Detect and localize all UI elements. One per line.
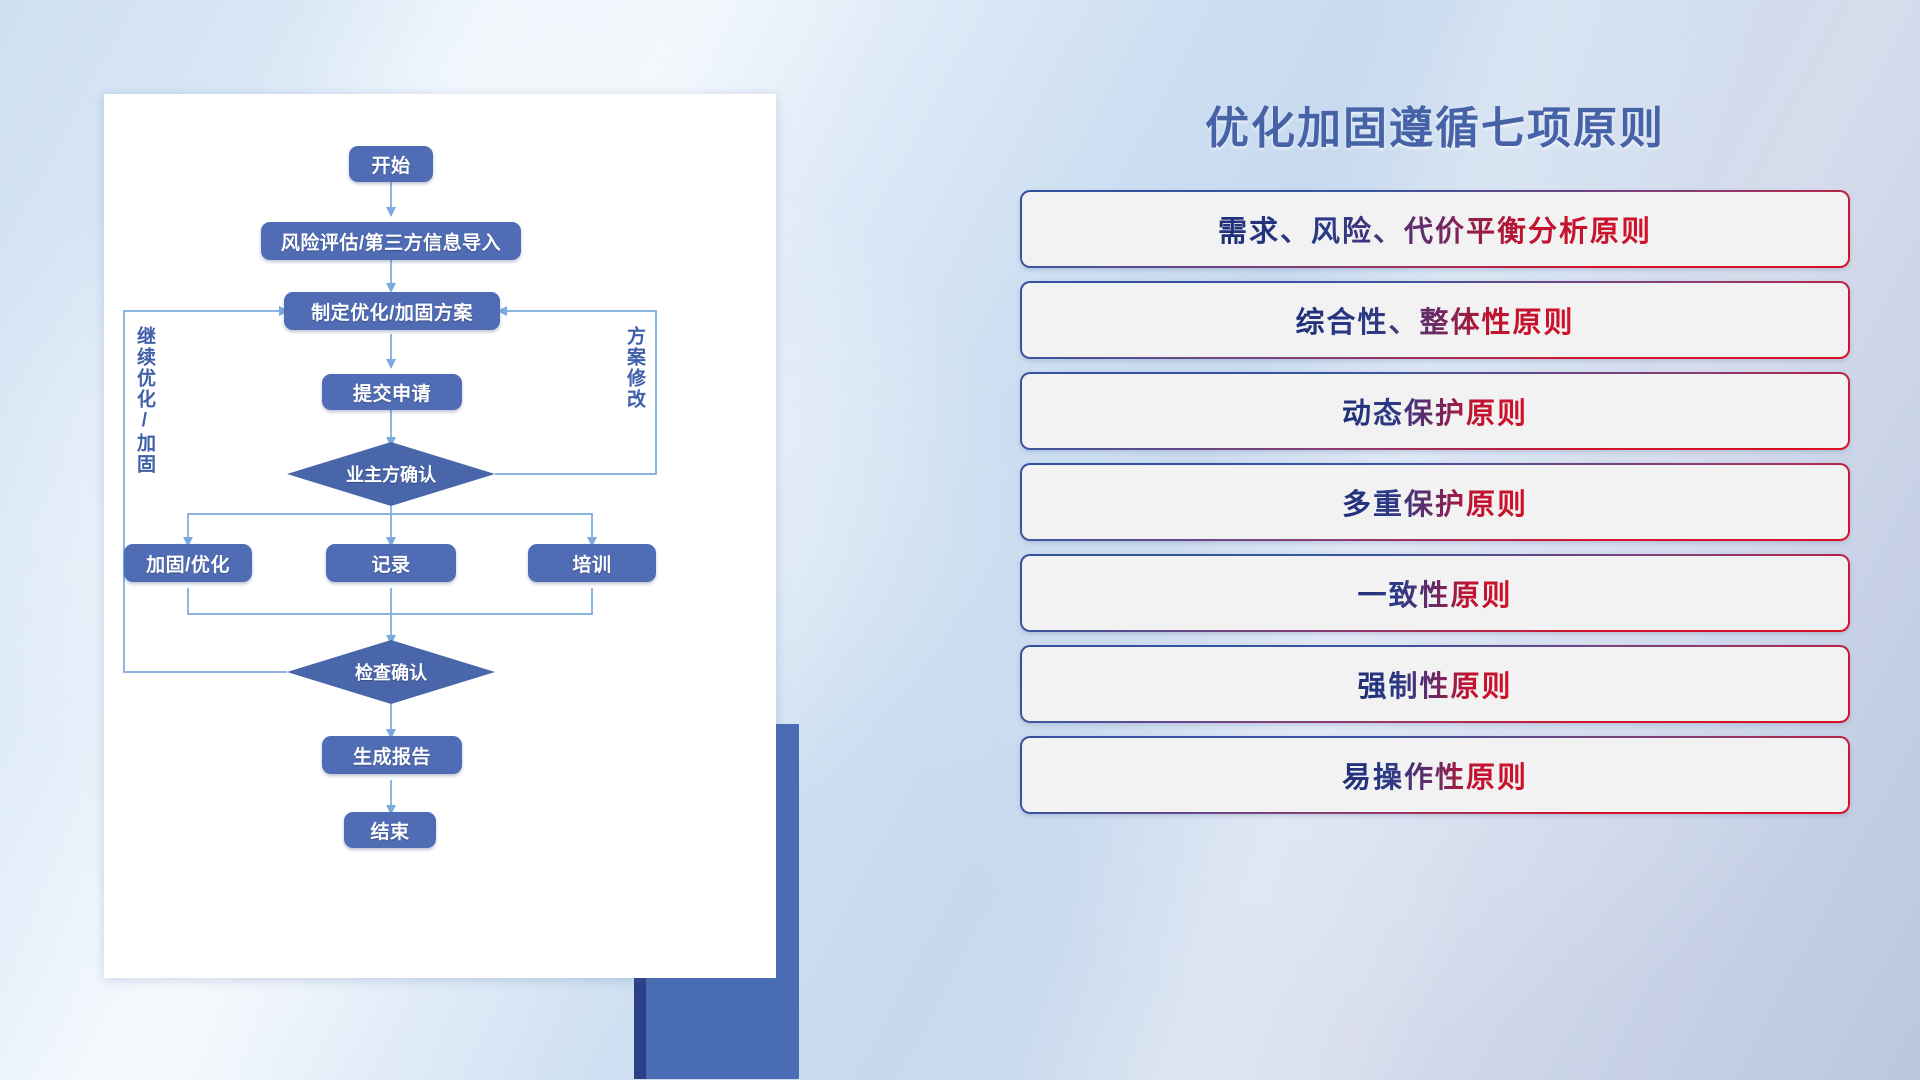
flow-node-label: 结束 — [370, 817, 409, 844]
flow-node-make-plan[interactable]: 制定优化/加固方案 — [284, 292, 500, 330]
principle-card[interactable]: 需求、风险、代价平衡分析原则 — [1020, 190, 1850, 268]
flow-node-record[interactable]: 记录 — [326, 544, 456, 582]
flow-node-label: 风险评估/第三方信息导入 — [281, 228, 501, 255]
principle-card[interactable]: 易操作性原则 — [1020, 736, 1850, 814]
principles-panel: 优化加固遵循七项原则 需求、风险、代价平衡分析原则 综合性、整体性原则 动态保护… — [1020, 78, 1850, 1028]
flow-node-training[interactable]: 培训 — [528, 544, 656, 582]
flow-node-label: 开始 — [371, 151, 410, 178]
flow-node-label: 记录 — [371, 550, 410, 577]
flow-node-label: 提交申请 — [353, 379, 431, 406]
edge-label-scheme-revision: 方案修改 — [624, 326, 644, 410]
flow-node-label: 检查确认 — [355, 659, 427, 685]
page-title: 优化加固遵循七项原则 — [1020, 92, 1850, 156]
flow-node-label: 制定优化/加固方案 — [311, 298, 473, 325]
principle-label: 易操作性原则 — [1342, 754, 1528, 796]
flow-node-end[interactable]: 结束 — [344, 812, 436, 848]
principle-card[interactable]: 强制性原则 — [1020, 645, 1850, 723]
flowchart-region: 开始 风险评估/第三方信息导入 制定优化/加固方案 提交申请 业主方确认 加固/… — [104, 94, 804, 994]
flow-node-label: 培训 — [572, 550, 611, 577]
flow-node-start[interactable]: 开始 — [349, 146, 433, 182]
flowchart-card: 开始 风险评估/第三方信息导入 制定优化/加固方案 提交申请 业主方确认 加固/… — [104, 94, 776, 978]
flow-node-generate-report[interactable]: 生成报告 — [322, 736, 462, 774]
principle-card[interactable]: 一致性原则 — [1020, 554, 1850, 632]
flow-node-label: 加固/优化 — [146, 550, 230, 577]
slide-canvas: 开始 风险评估/第三方信息导入 制定优化/加固方案 提交申请 业主方确认 加固/… — [0, 0, 1920, 1080]
principle-card[interactable]: 动态保护原则 — [1020, 372, 1850, 450]
principle-label: 需求、风险、代价平衡分析原则 — [1218, 208, 1652, 250]
principle-label: 强制性原则 — [1357, 663, 1512, 705]
flow-node-submit-application[interactable]: 提交申请 — [322, 374, 462, 410]
principle-label: 多重保护原则 — [1342, 481, 1528, 523]
principle-card[interactable]: 多重保护原则 — [1020, 463, 1850, 541]
edge-label-continue-optimize: 继续优化/加固 — [134, 326, 154, 475]
flow-node-risk-assessment[interactable]: 风险评估/第三方信息导入 — [261, 222, 521, 260]
principle-label: 动态保护原则 — [1342, 390, 1528, 432]
flow-node-reinforce-optimize[interactable]: 加固/优化 — [124, 544, 252, 582]
principle-label: 综合性、整体性原则 — [1295, 299, 1574, 341]
flow-node-label: 业主方确认 — [346, 461, 436, 487]
principle-card[interactable]: 综合性、整体性原则 — [1020, 281, 1850, 359]
principles-list: 需求、风险、代价平衡分析原则 综合性、整体性原则 动态保护原则 多重保护原则 一… — [1020, 190, 1850, 827]
flow-node-label: 生成报告 — [353, 742, 431, 769]
principle-label: 一致性原则 — [1357, 572, 1512, 614]
